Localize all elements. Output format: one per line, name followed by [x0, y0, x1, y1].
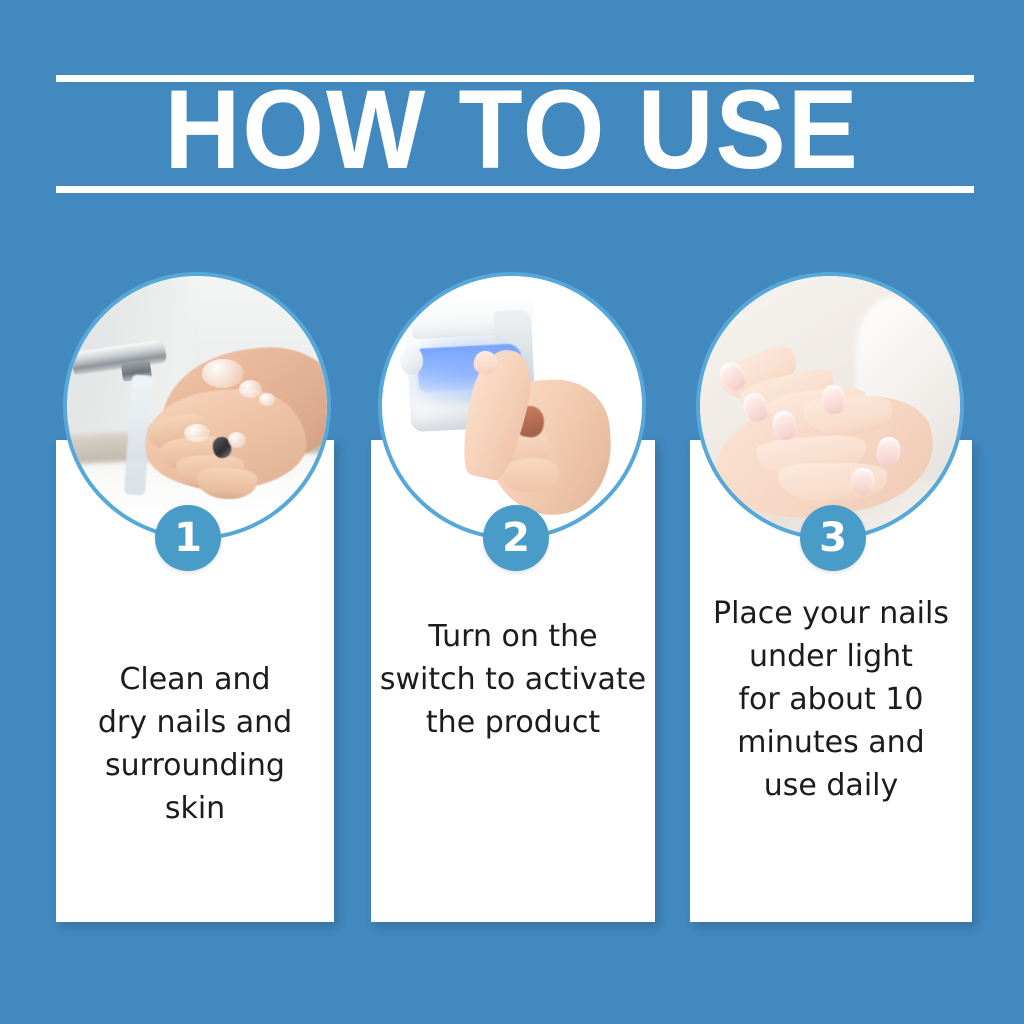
caption-line: under light — [698, 635, 964, 678]
caption-line: surrounding — [64, 744, 326, 787]
step-number-badge-1: 1 — [155, 505, 221, 571]
fingernail — [822, 385, 846, 414]
caption-line: use daily — [698, 764, 964, 807]
soap-suds — [239, 380, 262, 398]
step-3-caption: Place your nails under light for about 1… — [698, 592, 964, 807]
caption-line: Place your nails — [698, 592, 964, 635]
caption-line: for about 10 — [698, 678, 964, 721]
caption-line: Clean and — [64, 658, 326, 701]
caption-line: minutes and — [698, 721, 964, 764]
photo-inner — [67, 276, 327, 536]
soap-suds — [202, 359, 244, 388]
step-3-photo-manicured-hands — [696, 272, 964, 540]
caption-line: dry nails and — [64, 701, 326, 744]
photo-inner — [382, 276, 642, 536]
caption-line: Turn on the — [379, 615, 647, 658]
step-1-photo-washing-hands — [63, 272, 331, 540]
step-number-badge-2: 2 — [483, 505, 549, 571]
soap-suds — [228, 432, 246, 448]
step-1-caption: Clean and dry nails and surrounding skin — [64, 658, 326, 830]
step-2-caption: Turn on the switch to activate the produ… — [379, 615, 647, 744]
caption-line: the product — [379, 701, 647, 744]
step-number-badge-3: 3 — [800, 505, 866, 571]
knuckle — [501, 457, 559, 493]
caption-line: switch to activate — [379, 658, 647, 701]
soap-suds — [259, 393, 275, 406]
how-to-use-infographic: HOW TO USE Clean and dry nails and surro… — [0, 0, 1024, 1024]
step-2-photo-uv-lamp — [378, 272, 646, 540]
caption-line: skin — [64, 787, 326, 830]
photo-inner — [700, 276, 960, 536]
steps-row: Clean and dry nails and surrounding skin… — [0, 0, 1024, 1024]
